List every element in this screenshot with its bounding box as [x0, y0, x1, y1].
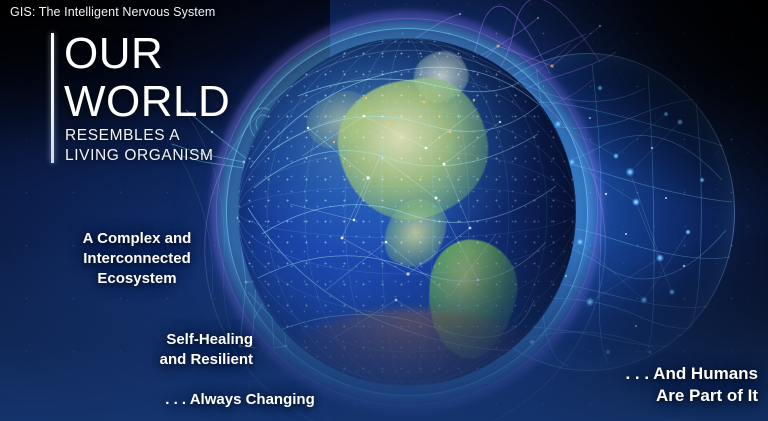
caption-always-changing: . . . Always Changing	[140, 390, 340, 410]
caption-ecosystem-line-1: A Complex and	[72, 229, 202, 249]
caption-healing-line-1: Self-Healing	[118, 330, 253, 350]
caption-humans-line-1: . . . And Humans	[528, 363, 758, 385]
caption-changing-line-1: . . . Always Changing	[140, 390, 340, 410]
page-subtitle: RESEMBLES A LIVING ORGANISM	[65, 126, 214, 166]
subtitle-line-1: RESEMBLES A	[65, 126, 214, 146]
caption-ecosystem: A Complex and Interconnected Ecosystem	[72, 229, 202, 289]
header-label: GIS: The Intelligent Nervous System	[10, 5, 215, 19]
vignette-top-right	[468, 0, 768, 230]
caption-ecosystem-line-2: Interconnected	[72, 249, 202, 269]
title-accent-bar	[51, 33, 54, 163]
caption-healing-line-2: and Resilient	[118, 350, 253, 370]
subtitle-line-2: LIVING ORGANISM	[65, 146, 214, 166]
caption-self-healing: Self-Healing and Resilient	[118, 330, 253, 370]
title-line-2: WORLD	[64, 78, 230, 126]
caption-humans-line-2: Are Part of It	[528, 385, 758, 407]
caption-and-humans: . . . And Humans Are Part of It	[528, 363, 758, 407]
caption-ecosystem-line-3: Ecosystem	[72, 269, 202, 289]
slide-canvas: GIS: The Intelligent Nervous System OUR …	[0, 0, 768, 421]
page-title: OUR WORLD	[64, 30, 230, 126]
title-line-1: OUR	[64, 30, 230, 78]
